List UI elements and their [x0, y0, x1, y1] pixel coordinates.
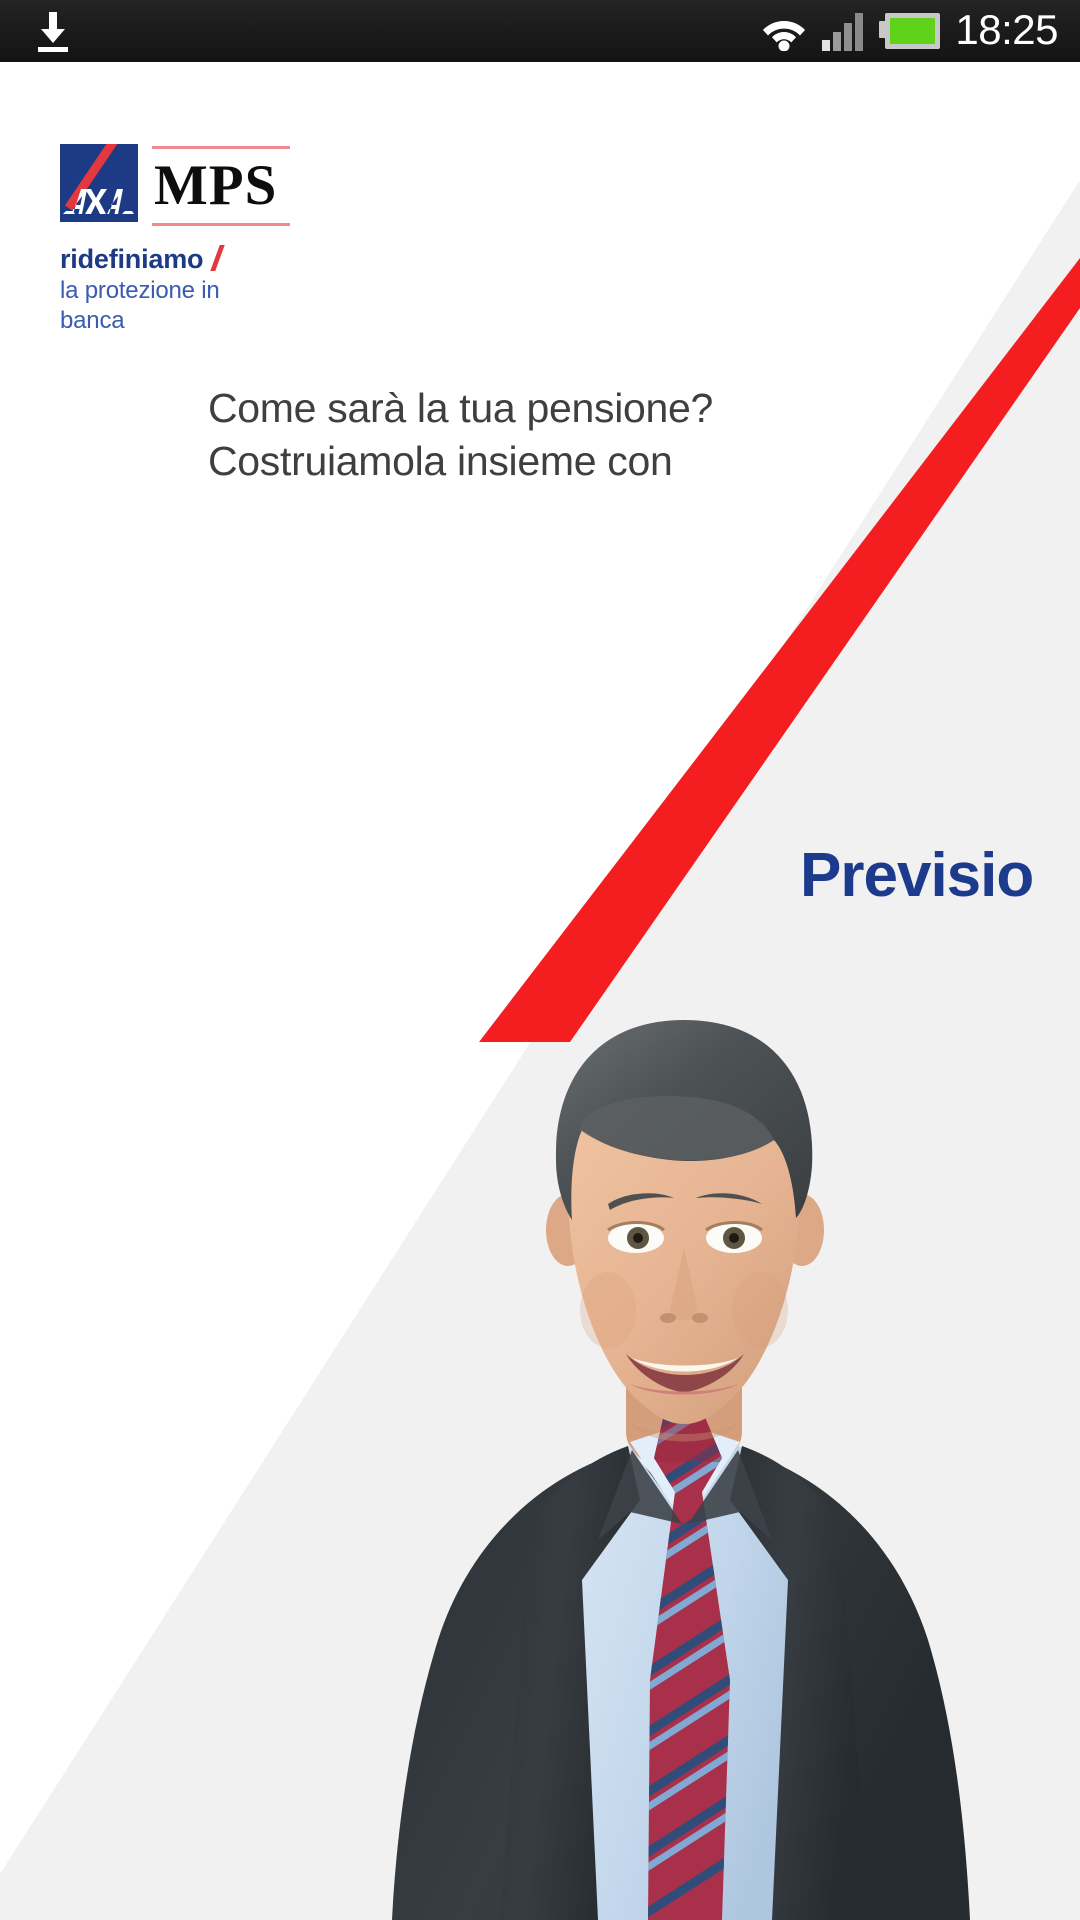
headline-line-2: Costruiamola insieme con [208, 435, 713, 488]
pupil-right [729, 1233, 739, 1243]
mps-wordmark: MPS [154, 154, 277, 218]
nostril-left [660, 1313, 676, 1323]
battery-icon [879, 11, 941, 51]
consultant-photo [330, 980, 1020, 1920]
tagline-sub-text: la protezione in banca [60, 276, 290, 336]
mps-wordmark-wrap: MPS [152, 140, 290, 228]
nostril-right [692, 1313, 708, 1323]
status-bar-clock: 18:25 [955, 9, 1058, 54]
headline-line-1: Come sarà la tua pensione? [208, 382, 713, 435]
app-splash-screen: 18:25 [0, 0, 1080, 1920]
cheek-shade-left [580, 1272, 636, 1348]
logo-tagline: ridefiniamo la protezione in banca [60, 244, 290, 336]
status-bar-left [0, 8, 76, 54]
headline-block: Come sarà la tua pensione? Costruiamola … [208, 382, 713, 488]
consultant-illustration [330, 980, 1020, 1920]
download-icon [30, 8, 76, 54]
wifi-icon [761, 11, 807, 51]
tagline-main-text: ridefiniamo [60, 244, 203, 274]
axa-logo-mark [60, 144, 138, 222]
axa-wordmark [63, 186, 135, 216]
mps-rule-top [152, 146, 290, 149]
tagline-slash-icon [211, 245, 225, 271]
signal-bars-icon [821, 10, 865, 52]
status-bar-right: 18:25 [761, 9, 1080, 54]
status-bar: 18:25 [0, 0, 1080, 62]
tagline-main-row: ridefiniamo [60, 244, 290, 274]
logo-top-row: MPS [60, 140, 290, 232]
mps-rule-bottom [152, 223, 290, 226]
axa-mps-logo: MPS ridefiniamo la protezione in banca [60, 140, 290, 336]
previsio-brand-name: Previsio [800, 845, 1033, 907]
pupil-left [633, 1233, 643, 1243]
cheek-shade-right [732, 1272, 788, 1348]
